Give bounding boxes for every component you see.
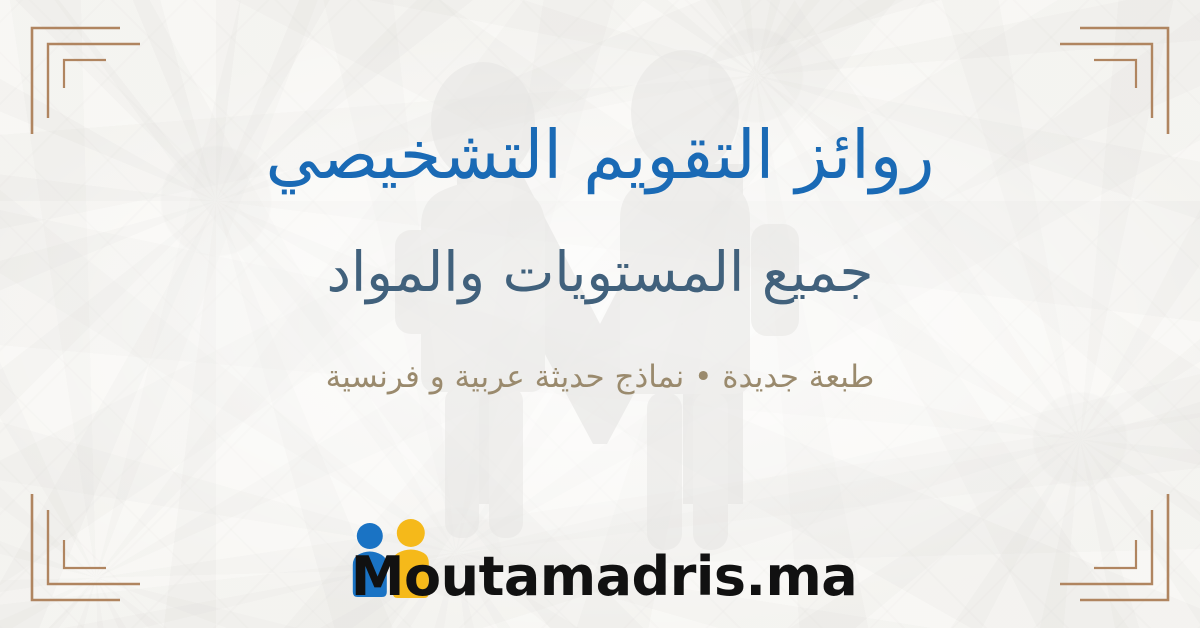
page-title: روائز التقويم التشخيصي — [266, 0, 935, 190]
logo-wordmark: Moutamadris.ma — [343, 550, 857, 614]
site-logo[interactable]: Moutamadris.ma — [343, 510, 857, 614]
tagline: طبعة جديدة • نماذج حديثة عربية و فرنسية — [326, 303, 875, 396]
promo-banner: روائز التقويم التشخيصي جميع المستويات وا… — [0, 0, 1200, 628]
subtitle: جميع المستويات والمواد — [327, 190, 874, 303]
